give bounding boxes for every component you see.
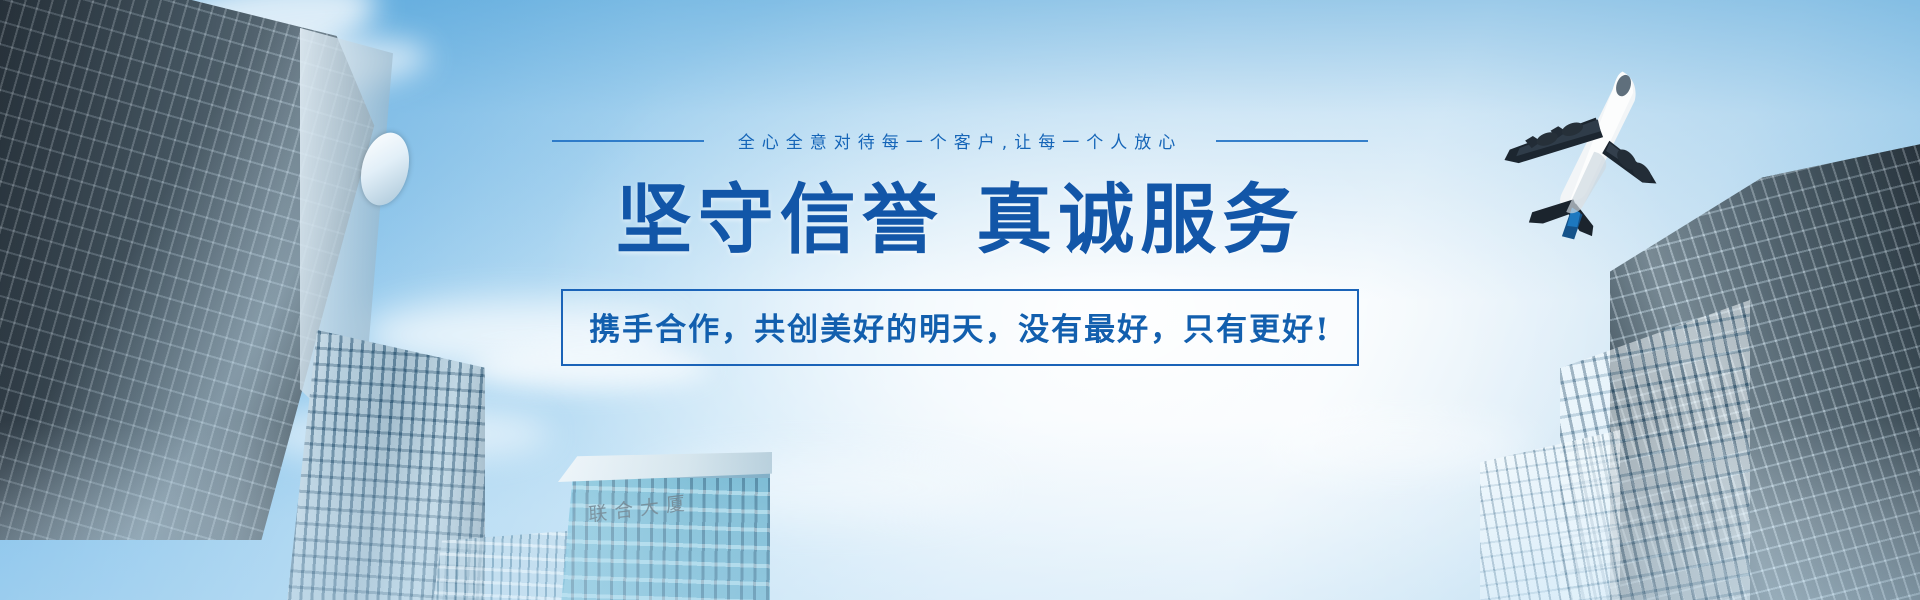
building-small-foreground — [430, 530, 580, 600]
tagline-row: 全心全意对待每一个客户,让每一个人放心 — [0, 128, 1920, 153]
banner-tagline: 全心全意对待每一个客户,让每一个人放心 — [738, 128, 1182, 153]
decorative-rule-left-icon — [552, 140, 704, 142]
subtitle-wrapper: 携手合作，共创美好的明天，没有最好，只有更好! — [0, 289, 1920, 366]
decorative-rule-right-icon — [1216, 140, 1368, 142]
banner-subtitle: 携手合作，共创美好的明天，没有最好，只有更好! — [561, 289, 1359, 366]
hero-banner: 联合大厦 全心全意对待每一个客户,让每一个人放心 坚守信誉 真诚服务 携手合作，… — [0, 0, 1920, 600]
banner-headline: 坚守信誉 真诚服务 — [0, 181, 1920, 259]
banner-text-block: 全心全意对待每一个客户,让每一个人放心 坚守信誉 真诚服务 携手合作，共创美好的… — [0, 128, 1920, 366]
